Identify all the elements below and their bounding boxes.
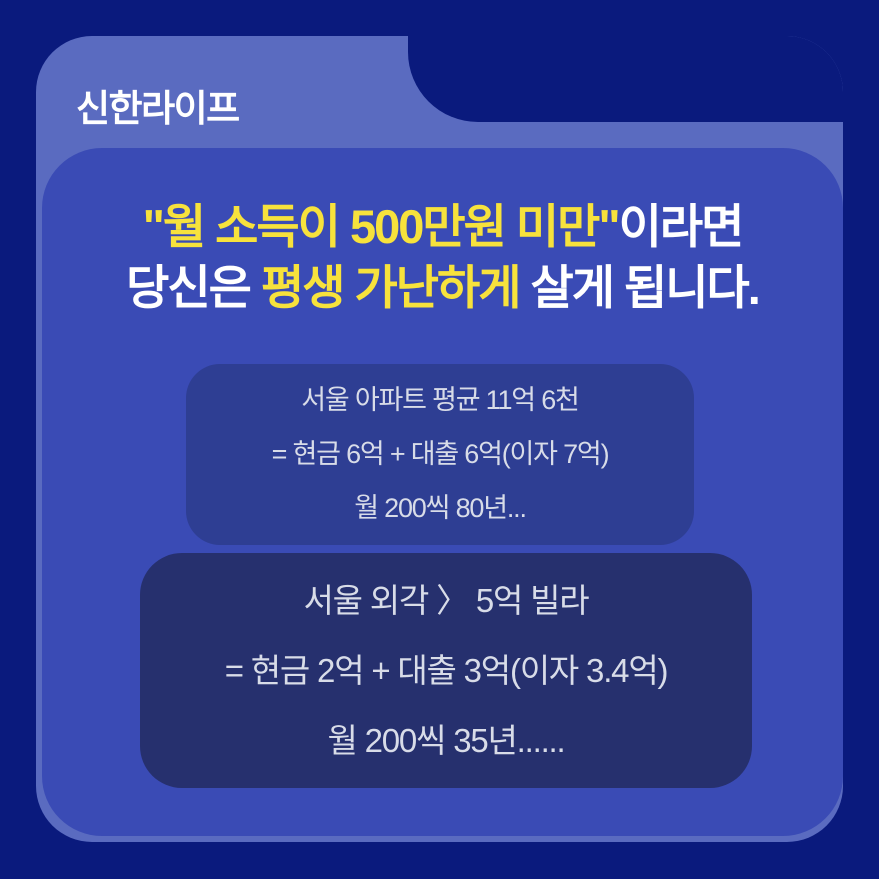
headline-quote: "월 소득이 500만원 미만" (143, 200, 619, 253)
card-apartment-row-3: 월 200씩 80년... (354, 495, 526, 522)
folder-tab-notch (408, 36, 843, 122)
card-villa-row-3: 월 200씩 35년...... (328, 724, 565, 757)
card-news-canvas: 신한라이프 "월 소득이 500만원 미만"이라면 당신은 평생 가난하게 살게… (0, 0, 879, 879)
card-apartment-row-1: 서울 아파트 평균 11억 6천 (301, 387, 578, 414)
headline: "월 소득이 500만원 미만"이라면 당신은 평생 가난하게 살게 됩니다. (42, 196, 843, 318)
headline-line2-accent: 평생 가난하게 (261, 261, 520, 314)
card-villa-row-1: 서울 외각 〉 5억 빌라 (304, 584, 589, 617)
info-card-apartment: 서울 아파트 평균 11억 6천 = 현금 6억 + 대출 6억(이자 7억) … (186, 364, 694, 545)
headline-line-2: 당신은 평생 가난하게 살게 됩니다. (42, 257, 843, 318)
headline-line2-lead: 당신은 (126, 261, 261, 314)
headline-line1-tail: 이라면 (619, 200, 743, 253)
info-card-villa: 서울 외각 〉 5억 빌라 = 현금 2억 + 대출 3억(이자 3.4억) 월… (140, 553, 752, 788)
headline-line2-tail: 살게 됩니다. (519, 261, 758, 314)
card-villa-row-2: = 현금 2억 + 대출 3억(이자 3.4억) (225, 654, 668, 687)
brand-logo: 신한라이프 (76, 78, 239, 132)
card-apartment-row-2: = 현금 6억 + 대출 6억(이자 7억) (272, 441, 609, 468)
headline-line-1: "월 소득이 500만원 미만"이라면 (42, 196, 843, 257)
